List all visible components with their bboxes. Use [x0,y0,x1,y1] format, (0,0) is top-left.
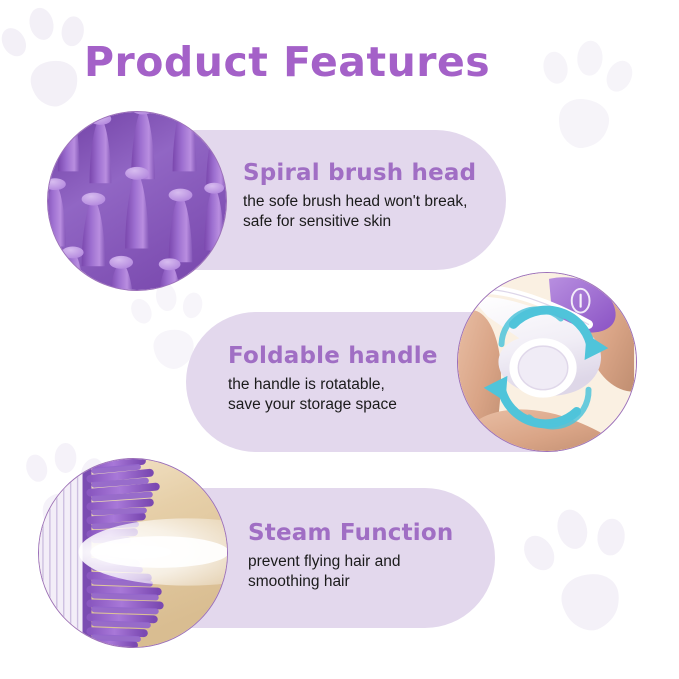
page-title: Product Features [84,38,490,86]
feature-body-1: the sofe brush head won't break, safe fo… [243,192,476,232]
spiral-brush-head-photo [47,111,227,291]
feature-heading-3: Steam Function [248,520,453,546]
paw-print-icon [495,479,679,664]
feature-body-2: the handle is rotatable, save your stora… [228,375,438,415]
feature-text-3: Steam Function prevent flying hair and s… [248,520,453,592]
paw-print-icon [509,17,671,179]
feature-text-2: Foldable handle the handle is rotatable,… [228,343,438,415]
feature-heading-2: Foldable handle [228,343,438,369]
foldable-handle-photo [457,272,637,452]
steam-function-photo [38,458,228,648]
product-features-infographic: Product Features [0,0,679,679]
feature-body-3: prevent flying hair and smoothing hair [248,552,453,592]
feature-text-1: Spiral brush head the sofe brush head wo… [243,160,476,232]
feature-heading-1: Spiral brush head [243,160,476,186]
